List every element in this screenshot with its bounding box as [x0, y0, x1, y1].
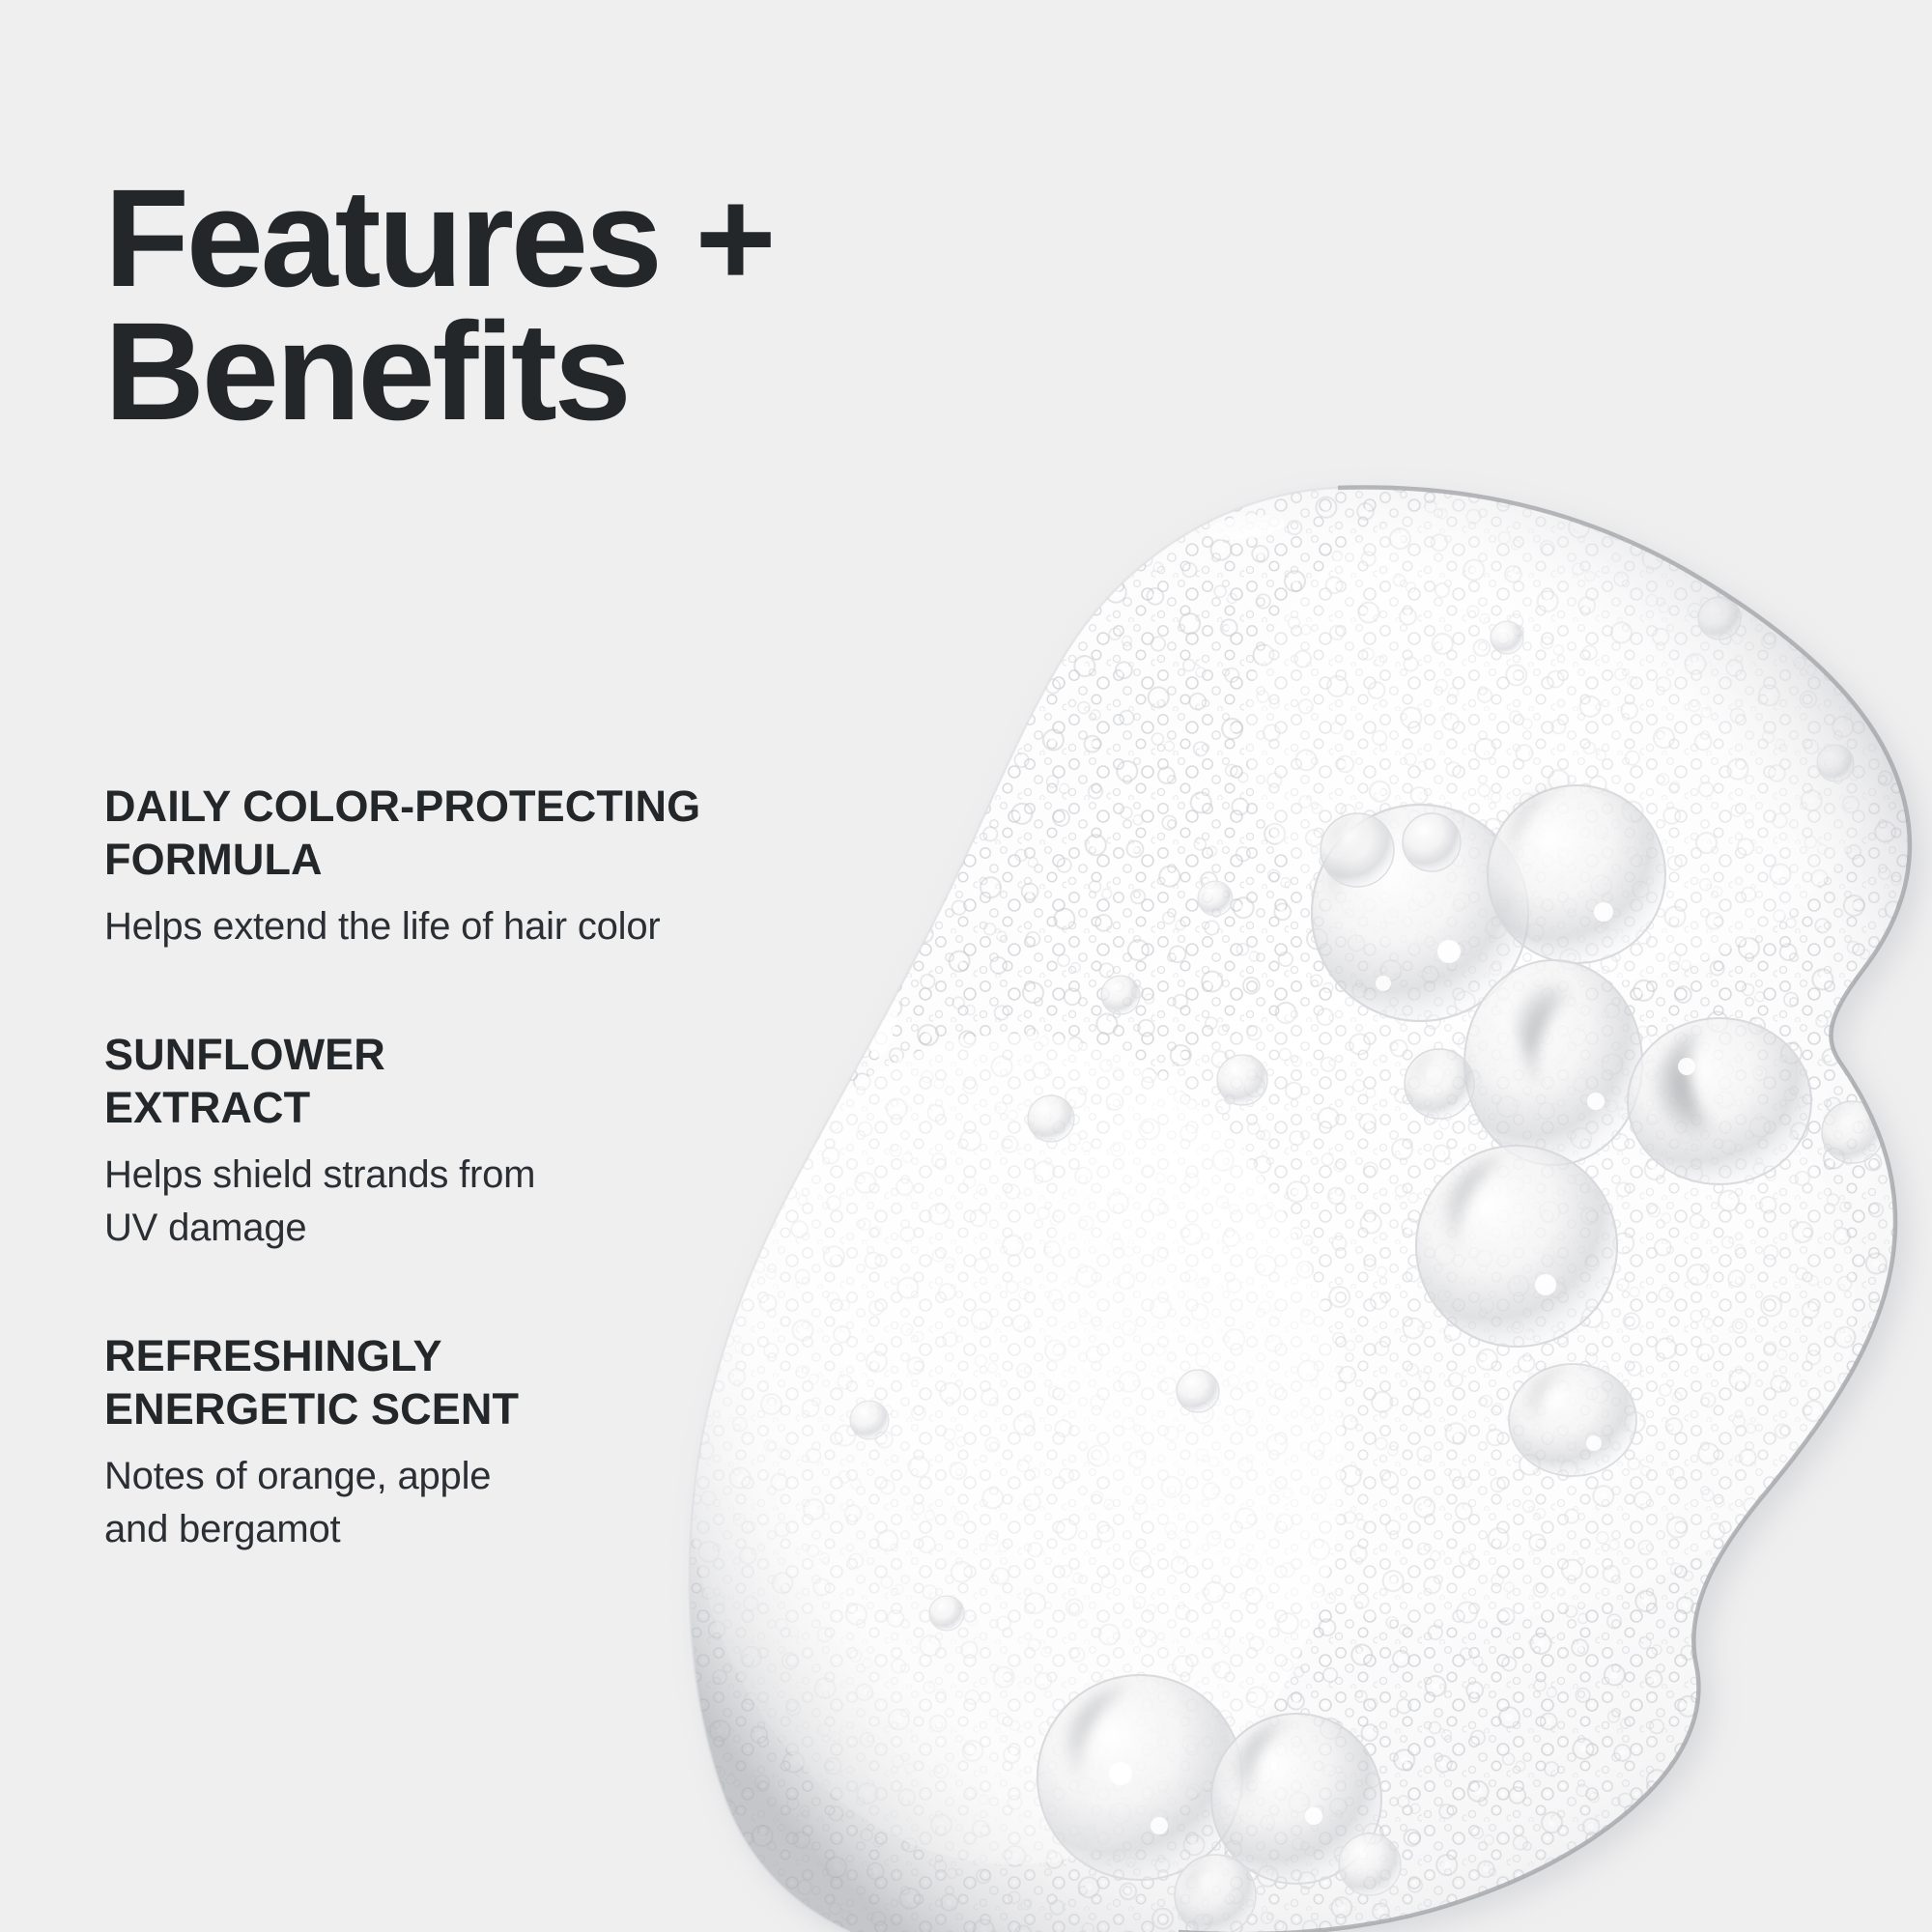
feature-heading: REFRESHINGLY ENERGETIC SCENT: [104, 1330, 819, 1436]
feature-list: DAILY COLOR-PROTECTING FORMULA Helps ext…: [104, 781, 819, 1556]
page-title: Features + Benefits: [104, 172, 974, 439]
feature-item-sunflower-extract: SUNFLOWER EXTRACT Helps shield strands f…: [104, 1029, 819, 1255]
swatch-highlights: [866, 511, 1287, 1061]
feature-item-refreshingly-energetic-scent: REFRESHINGLY ENERGETIC SCENT Notes of or…: [104, 1330, 819, 1556]
feature-item-daily-color-protecting-formula: DAILY COLOR-PROTECTING FORMULA Helps ext…: [104, 781, 819, 953]
swatch-outline-right: [1179, 487, 1910, 1932]
feature-heading: SUNFLOWER EXTRACT: [104, 1029, 819, 1135]
lower-bubble-cluster: [1037, 1675, 1401, 1932]
text-column: Features + Benefits DAILY COLOR-PROTECTI…: [104, 0, 916, 1932]
feature-description: Notes of orange, apple and bergamot: [104, 1450, 819, 1556]
feature-description: Helps extend the life of hair color: [104, 900, 819, 953]
feature-heading: DAILY COLOR-PROTECTING FORMULA: [104, 781, 819, 887]
feature-description: Helps shield strands from UV damage: [104, 1149, 819, 1255]
marketing-slide: Features + Benefits DAILY COLOR-PROTECTI…: [0, 0, 1932, 1932]
large-bubble-cluster: [850, 597, 1884, 1631]
